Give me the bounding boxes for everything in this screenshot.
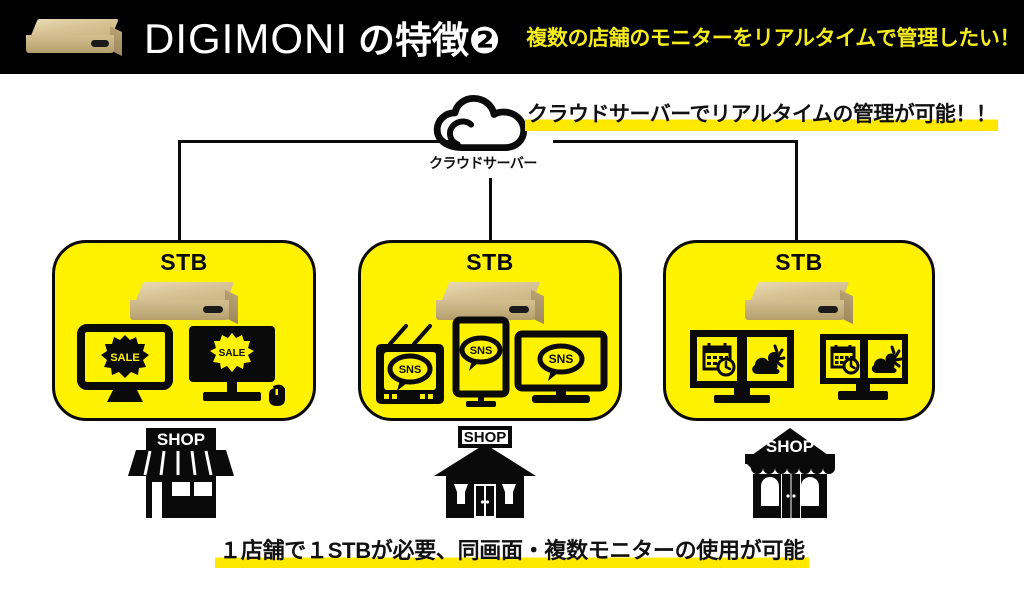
shop-label: SHOP <box>766 437 814 456</box>
screen-group: SNS SNS <box>361 323 619 408</box>
shop-label: SHOP <box>157 430 205 449</box>
panel-title: STB <box>361 249 619 276</box>
connector-left-vertical <box>178 140 181 243</box>
slide-canvas: DIGIMONI の特徴❷ 複数の店舗のモニターをリアルタイムで管理したい！ ク… <box>0 0 1024 590</box>
connector-center-vertical <box>489 178 492 243</box>
panel-title: STB <box>55 249 313 276</box>
sns-badge-text: SNS <box>470 345 493 357</box>
shop-scalloped-awning-icon: SHOP <box>735 424 845 520</box>
stb-panel-left[interactable]: STB SALE SA <box>52 240 316 421</box>
screen-group: SALE SALE <box>55 323 313 408</box>
mouse-icon <box>269 385 285 406</box>
split-monitor-calendar-weather-icon <box>818 328 910 408</box>
shop-striped-awning-icon: SHOP <box>126 424 236 520</box>
brand-name: DIGIMONI <box>144 15 348 63</box>
cloud-label: クラウドサーバー <box>418 153 548 173</box>
panel-title: STB <box>666 249 932 276</box>
cloud-callout-text: クラウドサーバーでリアルタイムの管理が可能！！ <box>525 97 998 131</box>
page-title: DIGIMONI の特徴❷ <box>144 10 500 64</box>
monitor-filled-sale-icon: SALE <box>187 324 291 408</box>
portrait-display-sns-icon: SNS <box>452 318 510 408</box>
shop-label: SHOP <box>464 429 507 446</box>
connector-left-horizontal <box>178 140 450 143</box>
split-monitor-calendar-weather-icon <box>688 328 796 408</box>
stb-device-icon <box>130 279 238 325</box>
footer-caption: １店舗で１STBが必要、同画面・複数モニターの使用が可能 <box>0 533 1024 568</box>
connector-right-horizontal <box>553 140 798 143</box>
sale-badge-text: SALE <box>219 348 246 359</box>
connector-right-vertical <box>795 140 798 243</box>
sns-badge-text: SNS <box>549 352 574 366</box>
retro-tv-sns-icon: SNS <box>374 322 446 408</box>
shop-gable-roof-icon: SHOP <box>430 424 540 520</box>
screen-group <box>666 323 932 408</box>
stb-panel-right[interactable]: STB <box>663 240 935 421</box>
monitor-outline-sale-icon: SALE <box>77 324 173 408</box>
header-subtitle: 複数の店舗のモニターをリアルタイムで管理したい！ <box>526 22 1020 52</box>
footer-caption-text: １店舗で１STBが必要、同画面・複数モニターの使用が可能 <box>215 533 809 568</box>
header-bar: DIGIMONI の特徴❷ 複数の店舗のモニターをリアルタイムで管理したい！ <box>0 0 1024 74</box>
stb-device-icon <box>745 279 853 325</box>
title-suffix: の特徴❷ <box>358 10 500 64</box>
stb-device-icon <box>26 17 122 57</box>
sns-badge-text: SNS <box>399 364 422 376</box>
stb-panel-center[interactable]: STB SNS <box>358 240 622 421</box>
sale-badge-text: SALE <box>110 352 139 364</box>
widescreen-monitor-sns-icon: SNS <box>516 328 606 408</box>
